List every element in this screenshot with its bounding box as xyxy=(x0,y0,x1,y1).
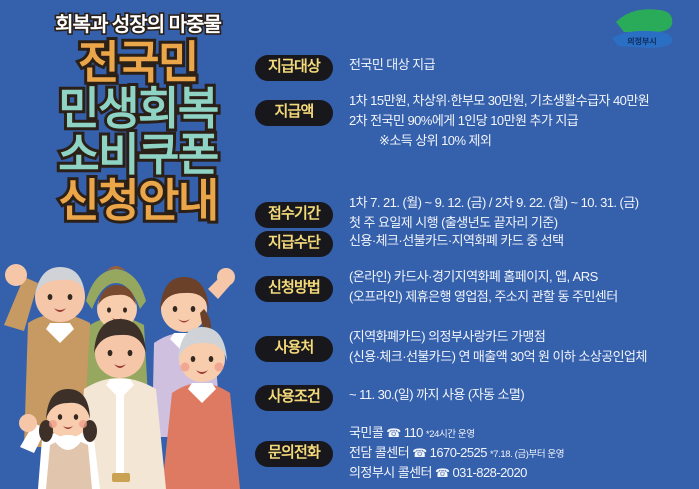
row-body-condition: ~ 11. 30.(일) 까지 사용 (자동 소멸) xyxy=(349,385,524,405)
info-row-telephone: 문의전화 국민콜 ☎ 110 *24시간 운영 전담 콜센터 ☎ 1670-25… xyxy=(255,423,564,482)
title-line-1: 전국민 xyxy=(22,41,254,85)
row-line: (지역화폐카드) 의정부사랑카드 가맹점 xyxy=(349,327,647,347)
info-row-apply: 신청방법 (온라인) 카드사·경기지역화폐 홈페이지, 앱, ARS (오프라인… xyxy=(255,267,618,307)
title-line-3: 소비쿠폰 xyxy=(22,133,254,177)
phone-entry: 전담 콜센터 ☎ 1670-2525 *7.18. (금)부터 운영 xyxy=(349,443,564,463)
label-pill-apply: 신청방법 xyxy=(255,276,333,302)
title-line-2: 민생회복 xyxy=(22,87,254,131)
pill-wrap: 지급액 xyxy=(255,91,341,126)
row-body-target: 전국민 대상 지급 xyxy=(349,55,435,75)
poster-canvas: 의정부시 회복과 성장의 마중물 전국민 민생회복 소비쿠폰 신청안내 xyxy=(0,0,699,489)
info-row-period: 접수기간 1차 7. 21. (월) ~ 9. 12. (금) / 2차 9. … xyxy=(255,193,639,233)
pill-wrap: 신청방법 xyxy=(255,267,341,302)
info-row-method: 지급수단 신용·체크·선불카드·지역화폐 카드 중 선택 xyxy=(255,231,564,257)
label-pill-telephone: 문의전화 xyxy=(255,441,333,467)
title-line-4: 신청안내 xyxy=(22,179,254,223)
telephone-icon: ☎ xyxy=(412,446,426,460)
info-row-usable: 사용처 (지역화폐카드) 의정부사랑카드 가맹점 (신용·체크·선불카드) 연 … xyxy=(255,327,647,367)
phone-entry: 의정부시 콜센터 ☎ 031-828-2020 xyxy=(349,463,564,483)
label-pill-method: 지급수단 xyxy=(255,231,333,257)
row-line: 신용·체크·선불카드·지역화폐 카드 중 선택 xyxy=(349,231,564,251)
phone-number[interactable]: 110 xyxy=(404,425,423,440)
family-illustration xyxy=(0,247,244,489)
row-body-amount: 1차 15만원, 차상위·한부모 30만원, 기초생활수급자 40만원 2차 전… xyxy=(349,91,649,150)
label-pill-usable: 사용처 xyxy=(255,336,333,362)
row-line: 첫 주 요일제 시행 (출생년도 끝자리 기준) xyxy=(349,213,639,233)
pill-wrap: 사용조건 xyxy=(255,385,341,411)
row-line: (신용·체크·선불카드) 연 매출액 30억 원 이하 소상공인업체 xyxy=(349,347,647,367)
row-line: 2차 전국민 90%에게 1인당 10만원 추가 지급 xyxy=(349,111,649,131)
pill-wrap: 지급수단 xyxy=(255,231,341,257)
label-pill-amount: 지급액 xyxy=(255,100,333,126)
info-row-target: 지급대상 전국민 대상 지급 xyxy=(255,55,435,81)
tagline: 회복과 성장의 마중물 xyxy=(22,8,254,37)
phone-name: 국민콜 xyxy=(349,425,383,440)
row-line: 1차 15만원, 차상위·한부모 30만원, 기초생활수급자 40만원 xyxy=(349,91,649,111)
row-body-telephone: 국민콜 ☎ 110 *24시간 운영 전담 콜센터 ☎ 1670-2525 *7… xyxy=(349,423,564,482)
pill-wrap: 문의전화 xyxy=(255,423,341,467)
phone-number[interactable]: 031-828-2020 xyxy=(452,465,526,480)
info-row-amount: 지급액 1차 15만원, 차상위·한부모 30만원, 기초생활수급자 40만원 … xyxy=(255,91,649,150)
uijeongbu-city-logo: 의정부시 xyxy=(602,4,682,52)
row-line: 1차 7. 21. (월) ~ 9. 12. (금) / 2차 9. 22. (… xyxy=(349,193,639,213)
phone-note: *24시간 운영 xyxy=(426,429,475,440)
row-line-note: ※소득 상위 10% 제외 xyxy=(349,131,649,151)
pill-wrap: 사용처 xyxy=(255,327,341,362)
row-line: (온라인) 카드사·경기지역화폐 홈페이지, 앱, ARS xyxy=(349,267,618,287)
pill-wrap: 지급대상 xyxy=(255,55,341,81)
phone-name: 의정부시 콜센터 xyxy=(349,465,432,480)
headline-block: 회복과 성장의 마중물 전국민 민생회복 소비쿠폰 신청안내 xyxy=(22,8,254,225)
row-body-period: 1차 7. 21. (월) ~ 9. 12. (금) / 2차 9. 22. (… xyxy=(349,193,639,233)
label-pill-period: 접수기간 xyxy=(255,202,333,228)
phone-number[interactable]: 1670-2525 xyxy=(430,445,487,460)
row-line: ~ 11. 30.(일) 까지 사용 (자동 소멸) xyxy=(349,385,524,405)
telephone-icon: ☎ xyxy=(386,426,400,440)
row-body-apply: (온라인) 카드사·경기지역화폐 홈페이지, 앱, ARS (오프라인) 제휴은… xyxy=(349,267,618,307)
row-line: (오프라인) 제휴은행 영업점, 주소지 관할 동 주민센터 xyxy=(349,287,618,307)
phone-name: 전담 콜센터 xyxy=(349,445,409,460)
logo-city-name: 의정부시 xyxy=(627,36,656,46)
row-body-usable: (지역화폐카드) 의정부사랑카드 가맹점 (신용·체크·선불카드) 연 매출액 … xyxy=(349,327,647,367)
pill-wrap: 접수기간 xyxy=(255,193,341,228)
telephone-icon: ☎ xyxy=(435,466,449,480)
phone-note: *7.18. (금)부터 운영 xyxy=(490,449,564,460)
label-pill-target: 지급대상 xyxy=(255,55,333,81)
label-pill-condition: 사용조건 xyxy=(255,385,333,411)
row-body-method: 신용·체크·선불카드·지역화폐 카드 중 선택 xyxy=(349,231,564,251)
phone-entry: 국민콜 ☎ 110 *24시간 운영 xyxy=(349,423,564,443)
row-line: 전국민 대상 지급 xyxy=(349,55,435,75)
info-row-condition: 사용조건 ~ 11. 30.(일) 까지 사용 (자동 소멸) xyxy=(255,385,524,411)
